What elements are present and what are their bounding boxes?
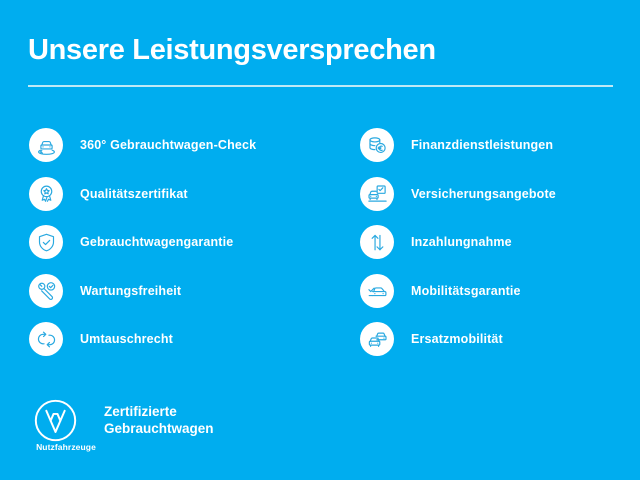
benefit-label: Versicherungsangebote [411,187,556,201]
brand-claim: Zertifizierte Gebrauchtwagen [104,403,214,437]
benefit-label: Inzahlungnahme [411,235,512,249]
brand-claim-line-2: Gebrauchtwagen [104,420,214,437]
benefit-item-360-check[interactable]: 360° Gebrauchtwagen-Check [29,121,329,170]
brand-claim-line-1: Zertifizierte [104,403,214,420]
benefit-item-wartungsfreiheit[interactable]: Wartungsfreiheit [29,267,329,316]
benefit-item-versicherungsangebote[interactable]: Versicherungsangebote [360,170,640,219]
benefits-column-left: 360° Gebrauchtwagen-Check Qualitätszerti… [29,121,329,364]
coins-euro-icon [360,128,394,162]
benefit-item-gebrauchtwagengarantie[interactable]: Gebrauchtwagengarantie [29,218,329,267]
benefit-label: Finanzdienstleistungen [411,138,553,152]
volkswagen-logo: Nutzfahrzeuge [29,398,91,460]
volkswagen-roundel-icon [33,398,78,443]
benefit-item-qualitaetszertifikat[interactable]: Qualitätszertifikat [29,170,329,219]
up-down-arrows-icon [360,225,394,259]
benefit-item-inzahlungnahme[interactable]: Inzahlungnahme [360,218,640,267]
title-divider [28,85,613,87]
benefit-label: Umtauschrecht [80,332,173,346]
shield-check-icon [29,225,63,259]
benefits-grid: 360° Gebrauchtwagen-Check Qualitätszerti… [0,121,640,366]
benefit-item-umtauschrecht[interactable]: Umtauschrecht [29,315,329,364]
benefit-label: Mobilitätsgarantie [411,284,521,298]
brand-sub-label: Nutzfahrzeuge [26,442,106,452]
benefit-label: Gebrauchtwagengarantie [80,235,233,249]
car-360-check-icon [29,128,63,162]
brand-lockup: Nutzfahrzeuge Zertifizierte Gebrauchtwag… [29,398,349,460]
benefit-item-ersatzmobilitaet[interactable]: Ersatzmobilität [360,315,640,364]
car-check-icon [360,274,394,308]
benefit-item-finanzdienstleistungen[interactable]: Finanzdienstleistungen [360,121,640,170]
benefit-label: 360° Gebrauchtwagen-Check [80,138,256,152]
exchange-arrows-icon [29,322,63,356]
benefit-item-mobilitaetsgarantie[interactable]: Mobilitätsgarantie [360,267,640,316]
benefit-label: Qualitätszertifikat [80,187,188,201]
benefit-label: Ersatzmobilität [411,332,503,346]
wrench-check-icon [29,274,63,308]
promo-panel: Unsere Leistungsversprechen 360° Gebrauc… [0,0,640,480]
benefit-label: Wartungsfreiheit [80,284,181,298]
benefits-column-right: Finanzdienstleistungen Versicherungsange… [360,121,640,364]
two-cars-icon [360,322,394,356]
page-title: Unsere Leistungsversprechen [28,33,436,67]
car-document-check-icon [360,177,394,211]
award-rosette-icon [29,177,63,211]
